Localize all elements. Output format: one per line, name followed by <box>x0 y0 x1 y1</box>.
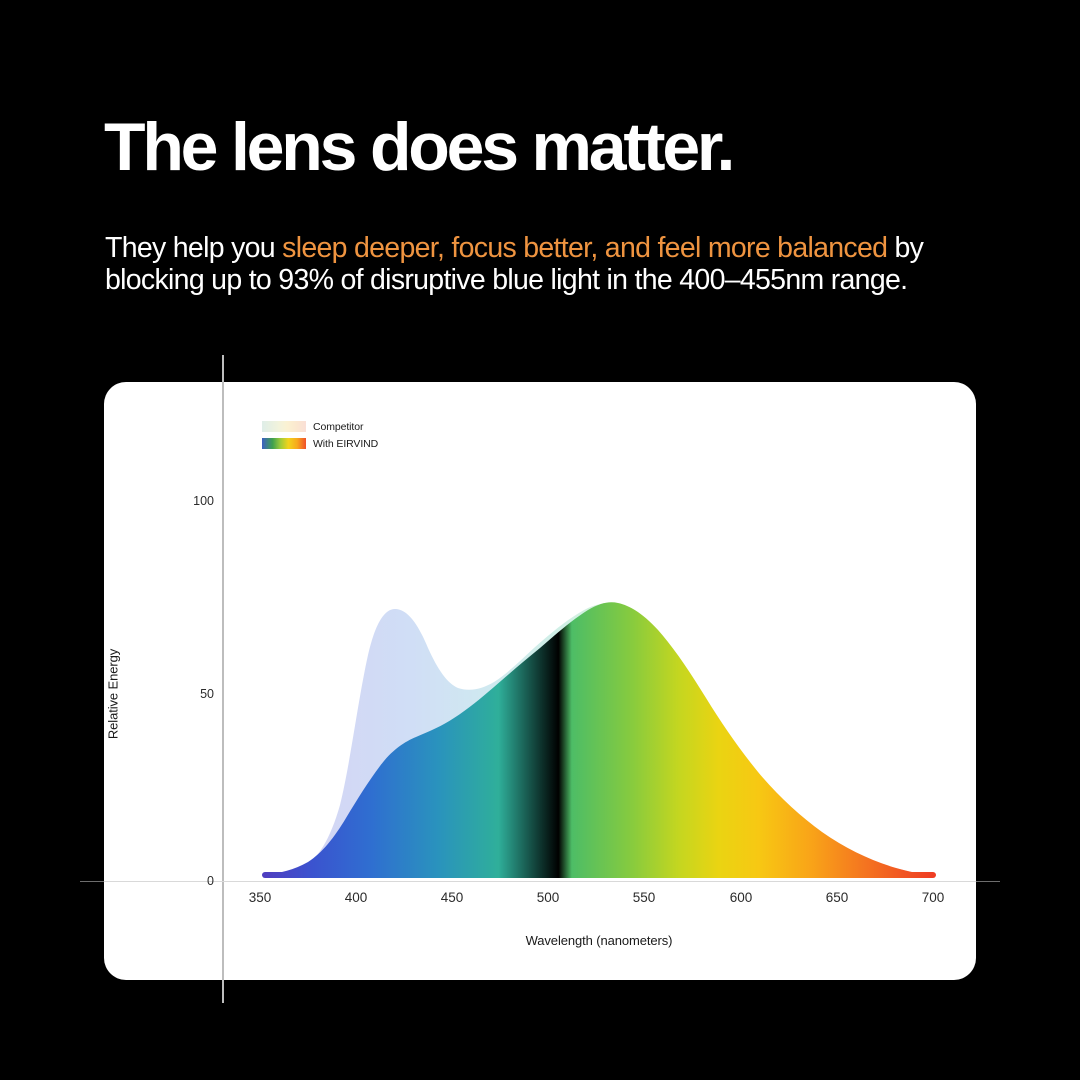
x-axis-baseline-right-overflow <box>976 881 1000 882</box>
y-tick-0: 0 <box>174 874 214 888</box>
y-axis-ticks: 100 50 0 <box>170 0 214 1080</box>
spectral-power-distribution-chart <box>0 0 1080 1080</box>
x-tick-550: 550 <box>614 890 674 905</box>
y-tick-100: 100 <box>174 494 214 508</box>
legend-item-eirvind: With EIRVIND <box>262 436 378 451</box>
y-axis-line <box>222 355 224 1003</box>
x-tick-650: 650 <box>807 890 867 905</box>
x-tick-400: 400 <box>326 890 386 905</box>
legend-label-eirvind: With EIRVIND <box>313 438 378 450</box>
y-tick-50: 50 <box>174 687 214 701</box>
x-tick-450: 450 <box>422 890 482 905</box>
x-tick-350: 350 <box>230 890 290 905</box>
legend-swatch-competitor-icon <box>262 421 306 432</box>
y-axis-title: Relative Energy <box>106 649 121 739</box>
legend-label-competitor: Competitor <box>313 421 363 433</box>
legend-swatch-eirvind-icon <box>262 438 306 449</box>
x-tick-500: 500 <box>518 890 578 905</box>
legend-item-competitor: Competitor <box>262 419 378 434</box>
x-tick-600: 600 <box>711 890 771 905</box>
x-axis-title: Wavelength (nanometers) <box>222 933 976 948</box>
x-axis-baseline <box>80 881 1000 882</box>
x-axis-baseline-left-overflow <box>80 881 104 882</box>
chart-legend: Competitor With EIRVIND <box>262 419 378 453</box>
x-tick-700: 700 <box>903 890 963 905</box>
